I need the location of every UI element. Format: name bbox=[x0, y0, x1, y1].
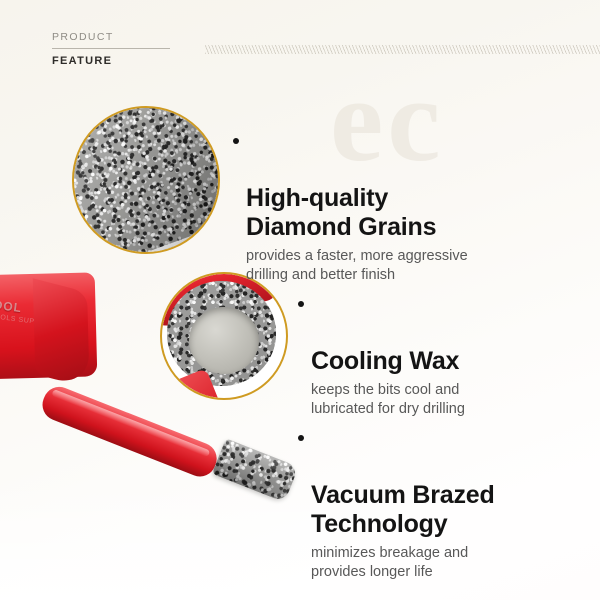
bullet-point-icon bbox=[233, 138, 239, 144]
feature-title-text: High-quality Diamond Grains bbox=[246, 184, 436, 241]
callout-diamond-grains-closeup bbox=[72, 106, 220, 254]
drill-bit-body: SHDIATOOL DIAMOND TOOLS SUPPLIER bbox=[0, 272, 97, 379]
drill-bit-shaft-highlight bbox=[51, 389, 210, 457]
bullet-point-icon bbox=[298, 301, 304, 307]
feature-title: High-quality Diamond Grains bbox=[246, 126, 516, 242]
feature-title-text: Vacuum Brazed Technology bbox=[311, 481, 495, 538]
feature-description: keeps the bits cool and lubricated for d… bbox=[311, 381, 526, 419]
feature-block-cooling-wax: Cooling Wax keeps the bits cool and lubr… bbox=[311, 289, 526, 419]
drill-bit-diamond-tip bbox=[212, 438, 298, 502]
feature-description: minimizes breakage and provides longer l… bbox=[311, 544, 541, 582]
header-hatch-band bbox=[205, 45, 600, 54]
feature-title-text: Cooling Wax bbox=[311, 347, 459, 375]
infographic-canvas: ec PRODUCT FEATURE SHDIATOOL DIAMOND TOO… bbox=[0, 0, 600, 600]
callout-cooling-wax-closeup bbox=[160, 272, 288, 400]
callout-image-area bbox=[162, 274, 286, 398]
feature-title: Cooling Wax bbox=[311, 289, 526, 376]
drill-bit-tip-shading bbox=[212, 438, 298, 502]
bullet-point-icon bbox=[298, 435, 304, 441]
feature-description: provides a faster, more aggressive drill… bbox=[246, 247, 516, 285]
drill-bit-body-face bbox=[33, 278, 90, 388]
header-line-product: PRODUCT bbox=[52, 30, 172, 44]
header-divider bbox=[52, 48, 170, 49]
feature-block-vacuum-brazed: Vacuum Brazed Technology minimizes break… bbox=[311, 423, 541, 582]
callout-image-area bbox=[74, 108, 218, 252]
image-shading-overlay bbox=[74, 108, 218, 252]
cooling-wax-core bbox=[189, 307, 258, 374]
feature-block-diamond-grains: High-quality Diamond Grains provides a f… bbox=[246, 126, 516, 285]
header-line-feature: FEATURE bbox=[52, 54, 172, 68]
feature-title: Vacuum Brazed Technology bbox=[311, 423, 541, 539]
page-header: PRODUCT FEATURE bbox=[52, 30, 172, 68]
